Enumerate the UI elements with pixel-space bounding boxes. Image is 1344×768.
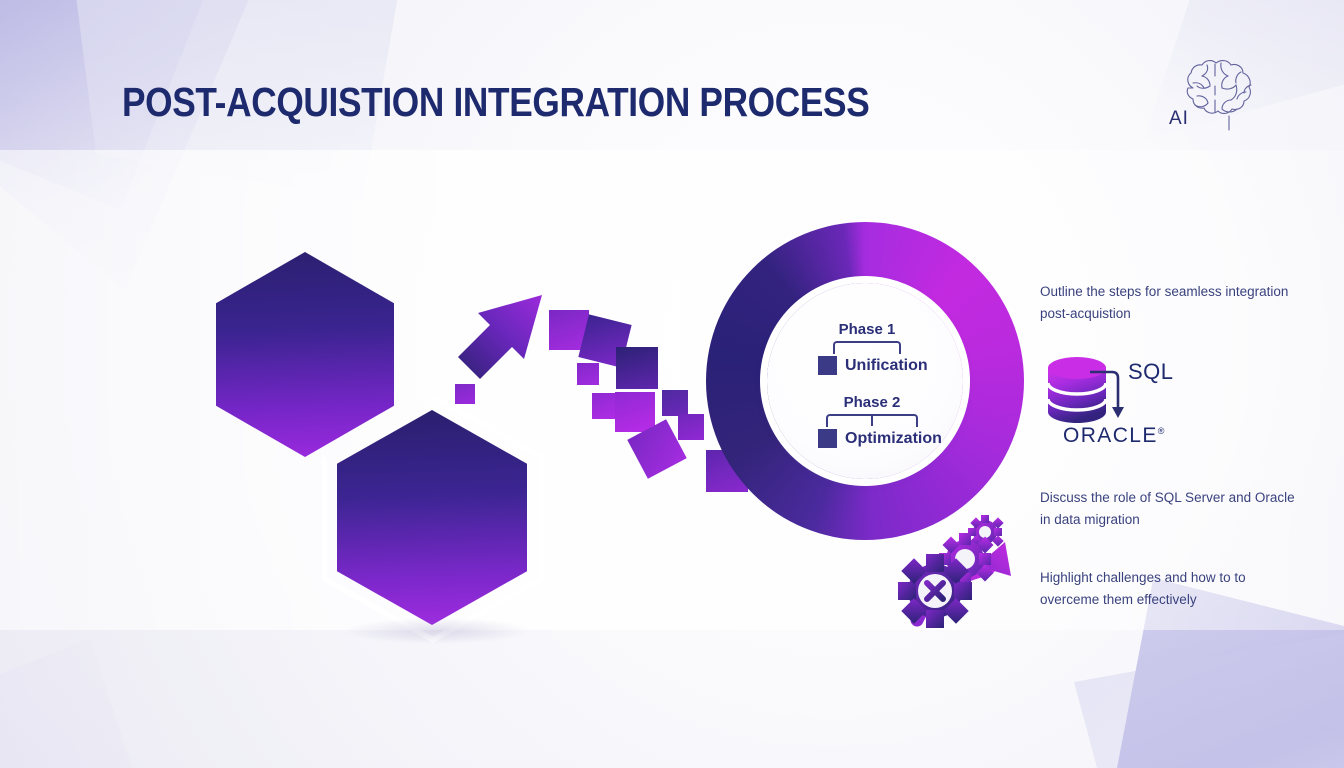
phase-swatch: [818, 356, 837, 375]
bracket-tick: [871, 415, 873, 426]
decorative-square: [662, 390, 688, 416]
ai-badge-label: AI: [1169, 108, 1189, 130]
gears-growth-icon: [893, 502, 1028, 632]
phase-block-2: Phase 2 Optimization: [812, 394, 932, 448]
note-integration-steps: Outline the steps for seamless integrati…: [1040, 281, 1290, 325]
background-shape-bottom-left: [0, 638, 180, 768]
decorative-square: [577, 363, 599, 385]
donut-inner-circle: [767, 283, 963, 479]
slide-canvas: POST-ACQUISTION INTEGRATION PROCESS: [0, 0, 1344, 768]
phase-title: Phase 2: [812, 394, 932, 411]
decorative-square: [615, 392, 655, 432]
phase-name: Unification: [845, 357, 928, 375]
decorative-square: [455, 384, 475, 404]
phase-swatch: [818, 429, 837, 448]
page-title: POST-ACQUISTION INTEGRATION PROCESS: [122, 79, 869, 126]
ai-brain-badge: AI: [1163, 40, 1283, 150]
arrow-down-icon: [1084, 368, 1124, 424]
phase-row: Optimization: [818, 429, 932, 448]
sql-label: SQL: [1128, 359, 1174, 385]
decorative-square: [616, 347, 658, 389]
oracle-label: ORACLE®: [1063, 424, 1164, 448]
brain-outline-icon: [1163, 40, 1283, 150]
oracle-label-text: ORACLE: [1063, 424, 1158, 447]
oracle-trademark-mark: ®: [1158, 426, 1165, 436]
phase-block-1: Phase 1 Unification: [812, 321, 922, 375]
note-challenges: Highlight challenges and how to to overc…: [1040, 567, 1295, 611]
phase-bracket: [833, 341, 901, 354]
process-donut-chart: [706, 222, 1024, 540]
hexagon-shadow: [345, 618, 530, 644]
phase-row: Unification: [818, 356, 922, 375]
database-migration-group: SQL ORACLE®: [1040, 350, 1300, 460]
note-sql-oracle-role: Discuss the role of SQL Server and Oracl…: [1040, 487, 1302, 531]
phase-title: Phase 1: [812, 321, 922, 338]
arrow-up-right-icon: [450, 285, 560, 393]
phase-name: Optimization: [845, 430, 942, 448]
decorative-square: [678, 414, 704, 440]
phase-bracket: [826, 414, 918, 427]
